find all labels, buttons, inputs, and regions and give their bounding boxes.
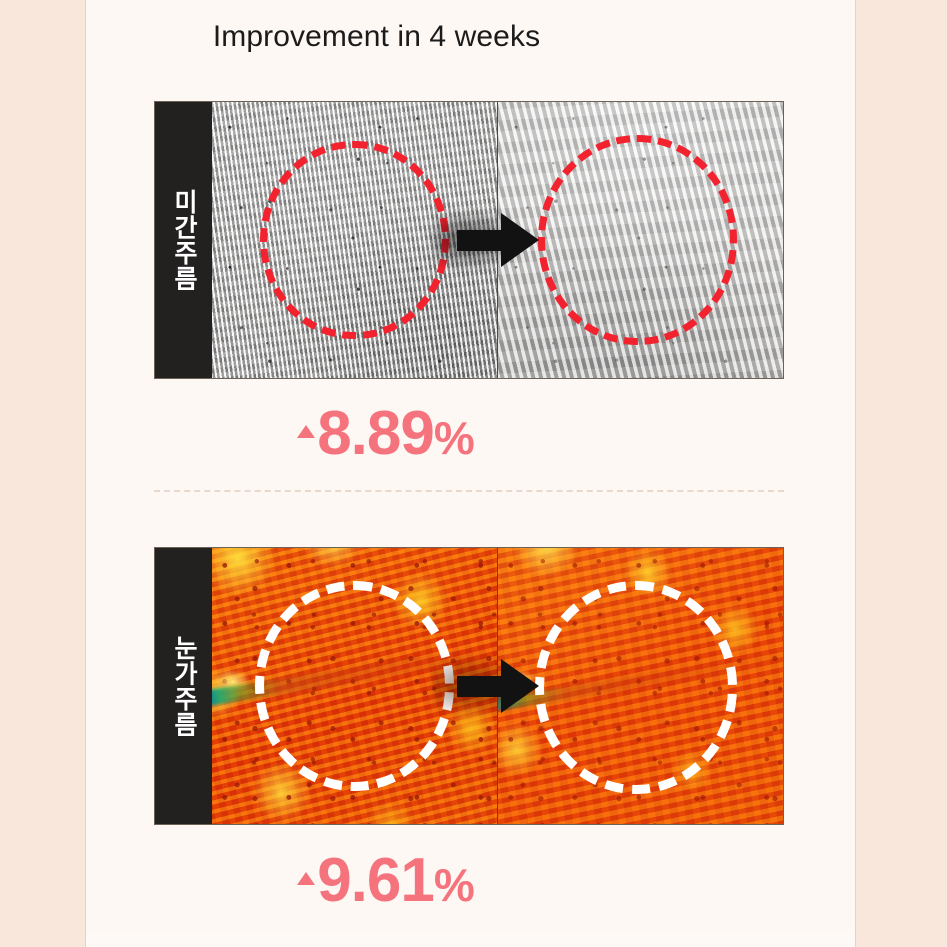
- stat-eye: 9.61%: [0, 845, 771, 916]
- stat-value-eye: 9.61: [317, 846, 434, 915]
- stat-value-glabella: 8.89: [317, 399, 434, 468]
- section-label-eye: 눈가주름: [155, 548, 212, 824]
- triangle-up-icon-glabella: [297, 425, 315, 438]
- comparison-block-eye: 눈가주름: [154, 547, 784, 825]
- skin-speckle-before: [212, 102, 497, 378]
- after-image-eye: [498, 548, 783, 824]
- after-image-glabella: [498, 102, 783, 378]
- page-title: Improvement in 4 weeks: [0, 20, 771, 54]
- before-image-glabella: [212, 102, 498, 378]
- bottom-strip: [86, 934, 855, 947]
- before-image-eye: [212, 548, 498, 824]
- section-label-glabella: 미간주름: [155, 102, 212, 378]
- section-divider: [154, 490, 784, 492]
- stat-glabella: 8.89%: [0, 398, 771, 469]
- stat-unit-glabella: %: [434, 412, 474, 464]
- skin-speckle-after: [498, 102, 783, 378]
- triangle-up-icon-eye: [297, 872, 315, 885]
- infographic-page: Improvement in 4 weeks 미간주름: [0, 0, 947, 947]
- before-after-pair-glabella: [212, 102, 783, 378]
- stat-unit-eye: %: [434, 859, 474, 911]
- comparison-block-glabella: 미간주름: [154, 101, 784, 379]
- before-after-pair-eye: [212, 548, 783, 824]
